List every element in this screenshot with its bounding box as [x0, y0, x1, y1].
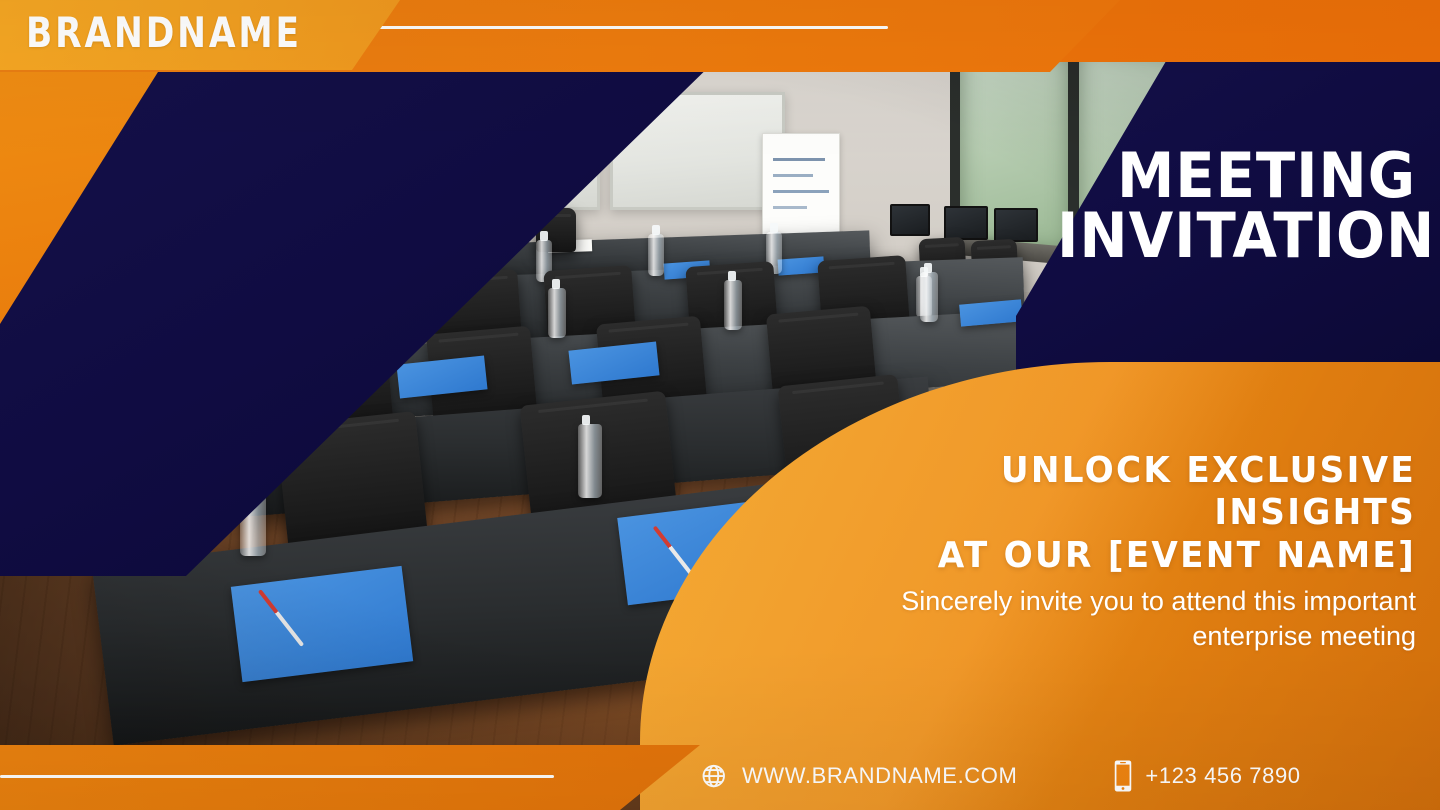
- footer-contact-row: WWW.BRANDNAME.COM +123 456 7890: [640, 748, 1440, 804]
- website-label: WWW.BRANDNAME.COM: [742, 763, 1017, 789]
- globe-icon: [700, 761, 730, 791]
- phone-contact[interactable]: +123 456 7890: [1113, 759, 1300, 793]
- headline-line-1: UNLOCK EXCLUSIVE INSIGHTS: [865, 450, 1416, 535]
- headline: UNLOCK EXCLUSIVE INSIGHTS AT OUR [EVENT …: [865, 450, 1416, 577]
- content-orange-panel: UNLOCK EXCLUSIVE INSIGHTS AT OUR [EVENT …: [640, 362, 1440, 810]
- footer-divider-rule: [0, 775, 554, 778]
- meeting-invitation-poster: MEETING INVITATION UNLOCK EXCLUSIVE INSI…: [0, 0, 1440, 810]
- title-line-2: INVITATION: [1057, 206, 1416, 266]
- phone-label: +123 456 7890: [1145, 763, 1300, 789]
- title-line-1: MEETING: [1057, 146, 1416, 206]
- brand-name: BRANDNAME: [26, 8, 302, 57]
- page-title: MEETING INVITATION: [1030, 146, 1430, 265]
- headline-line-2: AT OUR [EVENT NAME]: [865, 535, 1416, 577]
- website-contact[interactable]: WWW.BRANDNAME.COM: [700, 761, 1017, 791]
- body-text: Sincerely invite you to attend this impo…: [796, 584, 1416, 653]
- mobile-phone-icon: [1113, 759, 1133, 793]
